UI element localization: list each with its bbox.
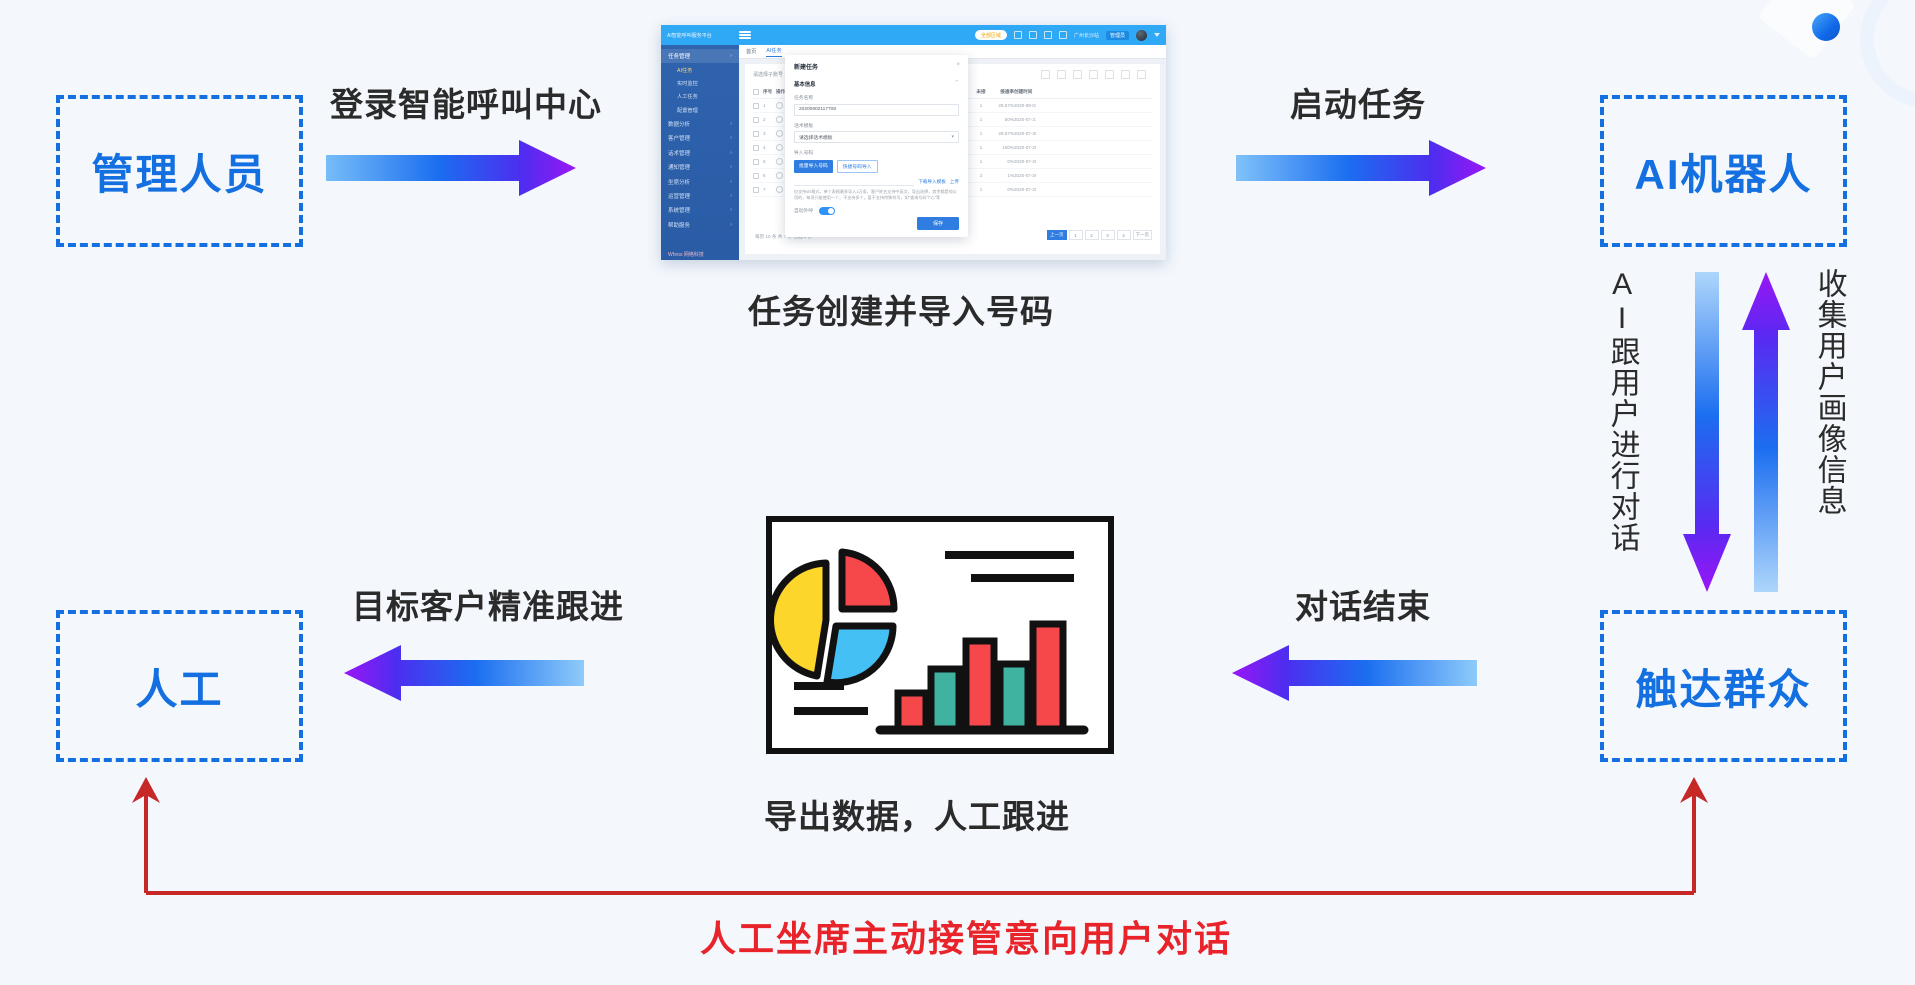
chevron-right-icon: › — [730, 150, 732, 156]
cell-no: 7 — [763, 187, 776, 192]
close-icon[interactable]: × — [956, 62, 960, 68]
row-checkbox[interactable] — [753, 103, 759, 109]
col-no: 序号 — [763, 89, 776, 95]
flow-arrow-ai-dialog-down-icon — [1683, 272, 1731, 592]
sidebar-label: 配置管理 — [677, 107, 698, 114]
field-select-value: 请选择话术模板 — [799, 134, 833, 141]
field-label-task-name: 任务名称 — [794, 94, 959, 101]
copy-icon[interactable] — [1137, 70, 1146, 79]
cell-no: 4 — [763, 145, 776, 150]
col-miss: 未接 — [972, 89, 990, 95]
sidebar-item-notification[interactable]: 通知管理 › — [661, 160, 739, 174]
chevron-right-icon: › — [730, 193, 732, 199]
app-screenshot-thumbnail[interactable]: AI智能呼叫服务平台 全部区域 广州长沙站 管理员 任务管理 › AI任务 — [661, 25, 1166, 260]
sidebar-label: AI任务 — [677, 67, 692, 74]
row-checkbox[interactable] — [753, 131, 759, 137]
view-icon[interactable] — [776, 172, 783, 179]
sidebar-label: 话术管理 — [668, 149, 690, 157]
upload-link[interactable]: 上传 — [950, 179, 959, 185]
toggle-auto-call[interactable] — [819, 207, 835, 215]
view-icon[interactable] — [776, 130, 783, 137]
modal-help-text: 仅支持xls格式，单个表格最多导入1万条，客户姓名支持中英文，导出选择，其余都是… — [794, 189, 959, 201]
flow-label-collect-profile: 收集用户画像信息 — [1812, 268, 1846, 516]
sidebar-label: 数据分析 — [668, 120, 690, 128]
batch-import-button[interactable]: 批量导入号码 — [794, 160, 833, 173]
cell-time: 2020-07-25 — [1014, 187, 1036, 192]
cell-rate: 100% — [990, 145, 1014, 150]
sidebar-item-help[interactable]: 帮助服务 › — [661, 218, 739, 232]
workflow-diagram-canvas: 管理人员 AI机器人 人工 触达群众 登录智能呼叫中心 启动任务 — [0, 0, 1915, 985]
check-icon[interactable] — [1105, 70, 1114, 79]
modal-section-label: 基本信息 — [794, 82, 816, 88]
screenshot-brand: AI智能呼叫服务平台 — [661, 32, 739, 39]
flow-arrow-collect-profile-up-icon — [1742, 272, 1790, 592]
settings-icon[interactable] — [1073, 70, 1082, 79]
node-admin[interactable]: 管理人员 — [56, 95, 303, 247]
chevron-right-icon: › — [730, 164, 732, 170]
sidebar-label: 通知管理 — [668, 163, 690, 171]
grid-icon[interactable] — [1044, 31, 1052, 39]
chevron-right-icon: › — [730, 222, 732, 228]
decorative-arc — [1860, 0, 1915, 108]
sidebar-item-customer[interactable]: 客户管理 › — [661, 131, 739, 145]
role-badge: 管理员 — [1106, 31, 1129, 40]
decorative-dot-icon — [1812, 13, 1840, 41]
sidebar-item-realtime-monitor[interactable]: 实时监控 — [661, 77, 739, 90]
quick-import-button[interactable]: 快捷号码导入 — [837, 160, 878, 173]
view-icon[interactable] — [776, 116, 783, 123]
row-checkbox[interactable] — [753, 159, 759, 165]
filter-icon[interactable] — [1089, 70, 1098, 79]
filter-label-subaccount: 请选择子账号 — [753, 71, 783, 78]
view-icon[interactable] — [776, 144, 783, 151]
field-label-import-number: 导入号码 — [794, 149, 959, 156]
flow-label-ai-dialog: AI跟用户进行对话 — [1605, 268, 1639, 553]
chevron-down-icon[interactable] — [1154, 33, 1160, 37]
sidebar-label: 客户管理 — [668, 134, 690, 142]
node-reached-crowd-label: 触达群众 — [1635, 656, 1811, 717]
cell-miss: 1 — [972, 187, 990, 192]
feedback-loop-label: 人工坐席主动接管意向用户对话 — [700, 910, 1232, 962]
sidebar-label: 坐席分析 — [668, 178, 690, 186]
chevron-right-icon: › — [730, 53, 732, 59]
flow-label-login: 登录智能呼叫中心 — [330, 78, 602, 126]
select-all-checkbox[interactable] — [753, 89, 759, 95]
cell-time: 2020-07-28 — [1014, 159, 1036, 164]
chevron-up-icon[interactable]: ⌃ — [954, 80, 959, 86]
modal-section-basic-info: 基本信息 ⌃ — [794, 80, 959, 88]
page-next[interactable]: 下一页 — [1133, 230, 1153, 240]
field-select-script-template[interactable]: 请选择话术模板 — [794, 131, 959, 143]
row-checkbox[interactable] — [753, 117, 759, 123]
cell-time: 2020-08-02 — [1014, 103, 1036, 108]
field-input-task-name[interactable]: 20200802117708 — [794, 104, 959, 116]
decorative-square — [1758, 0, 1856, 60]
sidebar-item-script[interactable]: 话术管理 › — [661, 146, 739, 160]
analytics-chart-icon — [766, 516, 1114, 754]
cell-miss: 1 — [972, 131, 990, 136]
region-text: 广州长沙站 — [1074, 32, 1099, 39]
sidebar-label: 任务管理 — [668, 52, 690, 60]
chevron-right-icon: › — [730, 135, 732, 141]
tab-ai-task[interactable]: AI任务 — [766, 47, 781, 57]
cell-rate: 50% — [990, 117, 1014, 122]
flow-arrow-precise-followup-left-icon — [344, 645, 584, 701]
view-icon[interactable] — [776, 186, 783, 193]
save-button[interactable]: 保存 — [917, 217, 959, 230]
cell-rate: 1% — [990, 173, 1014, 178]
sidebar-item-config[interactable]: 配置管理 — [661, 104, 739, 117]
screenshot-topbar: AI智能呼叫服务平台 全部区域 广州长沙站 管理员 — [661, 25, 1166, 45]
toggle-label-auto-call: 自动外呼 — [794, 207, 813, 214]
page-1[interactable]: 1 — [1069, 230, 1083, 240]
cell-no: 6 — [763, 173, 776, 178]
cell-time: 2020-07-31 — [1014, 117, 1036, 122]
pagination[interactable]: 上一页 1 2 3 4 下一页 — [1047, 230, 1152, 240]
row-checkbox[interactable] — [753, 187, 759, 193]
bell-icon[interactable] — [1059, 31, 1067, 39]
region-pill[interactable]: 全部区域 — [975, 30, 1007, 40]
flow-label-dialog-end: 对话结束 — [1295, 580, 1431, 628]
help-icon[interactable] — [1014, 31, 1022, 39]
view-icon[interactable] — [776, 102, 783, 109]
caption-task-create: 任务创建并导入号码 — [748, 285, 1054, 333]
col-rate: 接通率 — [990, 89, 1014, 95]
node-ai-robot[interactable]: AI机器人 — [1600, 95, 1847, 247]
hamburger-menu-icon[interactable] — [739, 31, 751, 39]
page-3[interactable]: 3 — [1101, 230, 1115, 240]
new-task-modal[interactable]: 新建任务 × 基本信息 ⌃ 任务名称 20200802117708 话术模板 请… — [785, 55, 968, 237]
sidebar-footer: Whros 网络科技 — [661, 251, 739, 258]
cell-rate: 0% — [990, 159, 1014, 164]
tab-home[interactable]: 首页 — [746, 48, 756, 55]
cell-no: 5 — [763, 159, 776, 164]
sidebar-item-ai-task[interactable]: AI任务 — [661, 63, 739, 76]
cell-miss: 1 — [972, 145, 990, 150]
chart-svg — [772, 522, 1108, 748]
flow-label-precise-followup: 目标客户精准跟进 — [352, 580, 624, 628]
sidebar-label: 系统管理 — [668, 206, 690, 214]
flow-arrow-start-task-right-icon — [1236, 140, 1486, 196]
cell-no: 3 — [763, 131, 776, 136]
cell-time: 2020-07-26 — [1014, 173, 1036, 178]
sidebar-label: 运营管理 — [668, 192, 690, 200]
chevron-right-icon: › — [730, 121, 732, 127]
page-prev[interactable]: 上一页 — [1047, 230, 1067, 240]
cell-time: 2020-07-30 — [1014, 131, 1036, 136]
node-human-agent[interactable]: 人工 — [56, 610, 303, 762]
flow-arrow-dialog-end-left-icon — [1232, 645, 1477, 701]
cell-miss: 1 — [972, 117, 990, 122]
chevron-right-icon: › — [730, 179, 732, 185]
sidebar-label: 实时监控 — [677, 80, 698, 87]
node-ai-robot-label: AI机器人 — [1634, 141, 1812, 202]
sidebar-item-task-management[interactable]: 任务管理 › — [661, 49, 739, 63]
page-4[interactable]: 4 — [1117, 230, 1131, 240]
pie-chart-icon — [772, 552, 894, 683]
cell-rate: 28.57% — [990, 131, 1014, 136]
chevron-right-icon: › — [730, 207, 732, 213]
sidebar-item-manual-task[interactable]: 人工任务 — [661, 90, 739, 103]
sidebar-item-data-analysis[interactable]: 数据分析 › — [661, 117, 739, 131]
cell-miss: 1 — [972, 159, 990, 164]
node-human-agent-label: 人工 — [135, 656, 223, 717]
apps-icon[interactable] — [1029, 31, 1037, 39]
flow-label-start-task: 启动任务 — [1290, 78, 1426, 126]
avatar[interactable] — [1136, 30, 1147, 41]
cell-rate: 0% — [990, 187, 1014, 192]
sidebar-label: 帮助服务 — [668, 221, 690, 229]
row-checkbox[interactable] — [753, 173, 759, 179]
node-reached-crowd[interactable]: 触达群众 — [1600, 610, 1847, 762]
export-icon[interactable] — [1041, 70, 1050, 79]
screenshot-sidebar: 任务管理 › AI任务 实时监控 人工任务 配置管理 数据分析 › 客户管理 › — [661, 45, 739, 260]
download-template-link[interactable]: 下载导入模板 — [918, 179, 946, 185]
upload-filename-field[interactable] — [794, 177, 914, 186]
page-2[interactable]: 2 — [1085, 230, 1099, 240]
refresh-icon[interactable] — [1057, 70, 1066, 79]
cell-miss: 2 — [972, 173, 990, 178]
feedback-loop-line-icon — [120, 775, 1720, 895]
col-time: 创建时间 — [1014, 89, 1036, 95]
sidebar-item-system[interactable]: 系统管理 › — [661, 203, 739, 217]
view-icon[interactable] — [776, 158, 783, 165]
cell-rate: 28.57% — [990, 103, 1014, 108]
cell-miss: 1 — [972, 103, 990, 108]
delete-icon[interactable] — [1121, 70, 1130, 79]
sidebar-item-seat-analysis[interactable]: 坐席分析 › — [661, 174, 739, 188]
flow-arrow-login-right-icon — [326, 140, 576, 196]
sidebar-item-operations[interactable]: 运营管理 › — [661, 189, 739, 203]
cell-no: 2 — [763, 117, 776, 122]
cell-no: 1 — [763, 103, 776, 108]
field-label-script-template: 话术模板 — [794, 122, 959, 129]
cell-time: 2020-07-29 — [1014, 145, 1036, 150]
modal-title: 新建任务 — [794, 62, 959, 71]
node-admin-label: 管理人员 — [91, 141, 267, 202]
sidebar-label: 人工任务 — [677, 93, 698, 100]
row-checkbox[interactable] — [753, 145, 759, 151]
bar-chart-icon — [880, 624, 1084, 730]
